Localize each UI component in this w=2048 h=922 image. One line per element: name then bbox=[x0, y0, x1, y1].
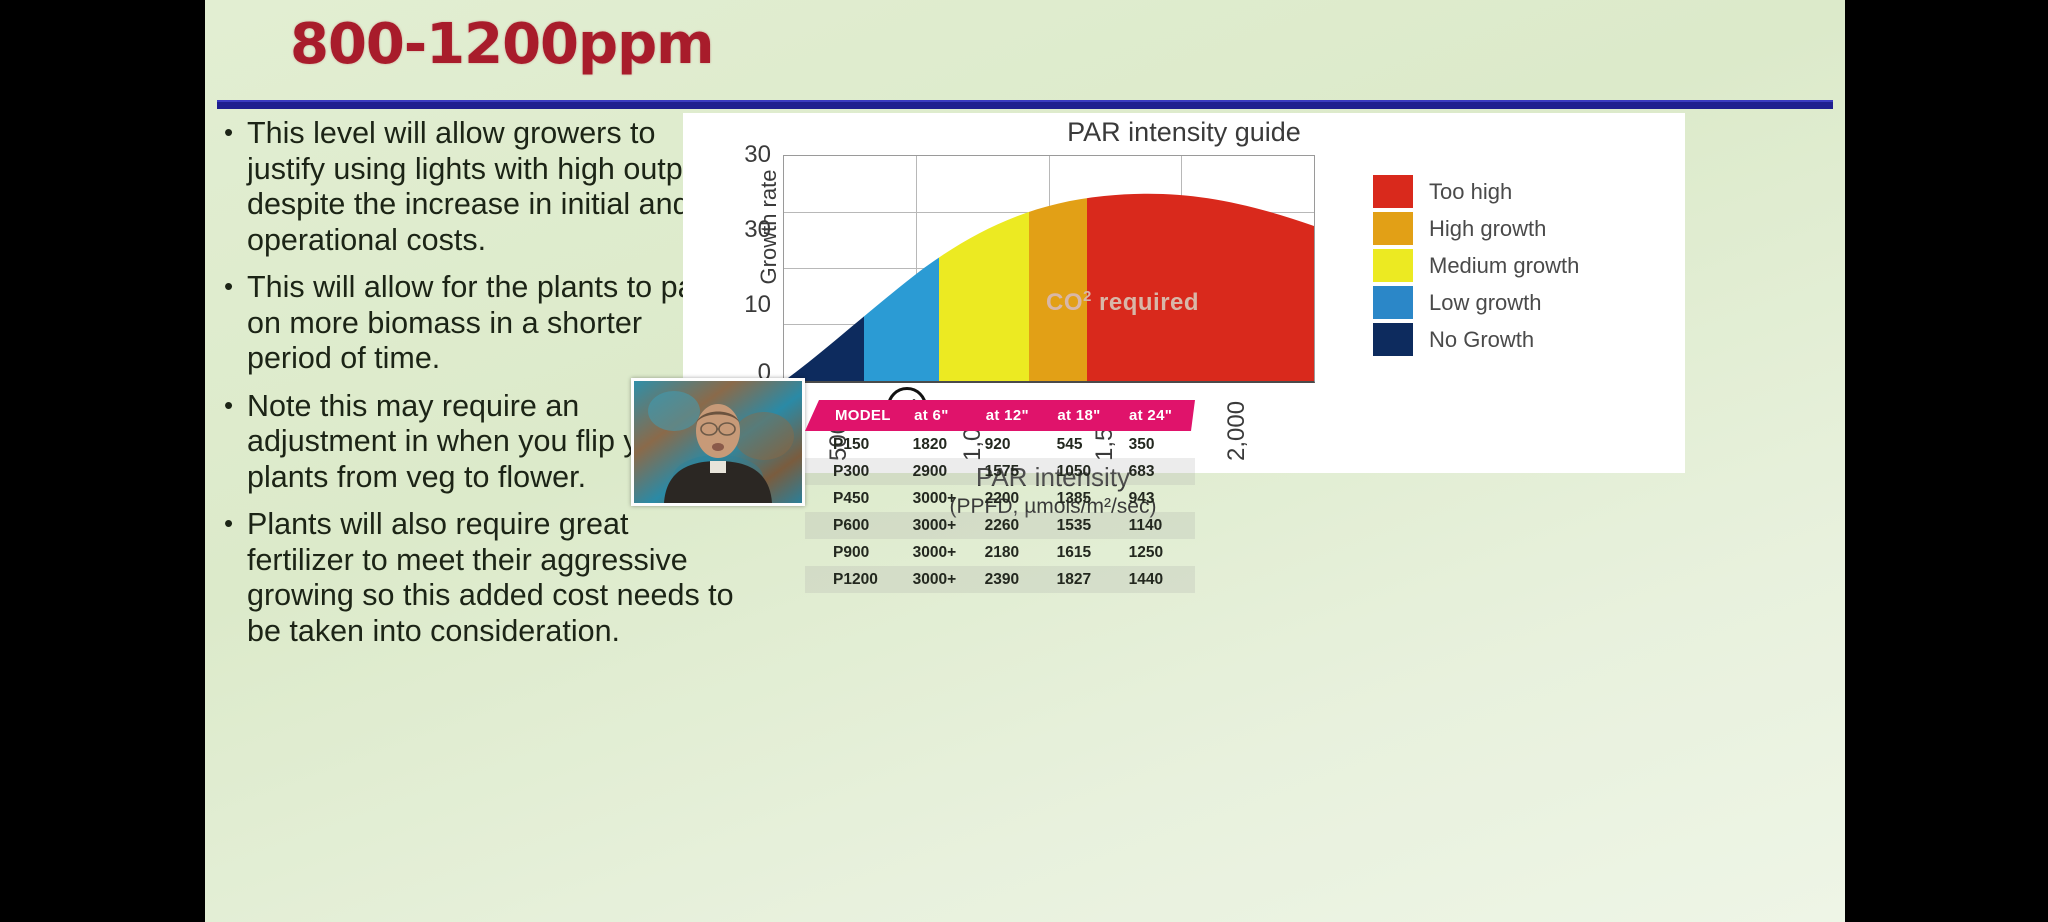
y-axis-ticks: 30 30 10 0 bbox=[721, 141, 771, 373]
letterbox-left bbox=[0, 0, 205, 922]
table-row: P300 2900 1575 1050 683 bbox=[805, 458, 1195, 485]
cell-at-18: 1535 bbox=[1057, 517, 1129, 535]
ppfd-product-table: MODEL at 6" at 12" at 18" at 24" P150 18… bbox=[805, 400, 1195, 593]
x-tick: 2,000 bbox=[1223, 401, 1251, 461]
cell-at-12: 2260 bbox=[985, 517, 1057, 535]
list-item: This will allow for the plants to pack o… bbox=[215, 270, 735, 377]
cell-at-18: 1385 bbox=[1057, 490, 1129, 508]
column-header-at-18: at 18" bbox=[1057, 407, 1129, 424]
cell-at-18: 1827 bbox=[1057, 571, 1129, 589]
legend-label: Too high bbox=[1429, 179, 1512, 205]
cell-at-24: 350 bbox=[1129, 436, 1195, 454]
cell-at-24: 683 bbox=[1129, 463, 1195, 481]
presenter-video-frame bbox=[634, 381, 802, 503]
plot-canvas: CO2 required bbox=[783, 155, 1315, 383]
legend-item: Too high bbox=[1373, 173, 1579, 210]
legend-item: High growth bbox=[1373, 210, 1579, 247]
cell-model: P450 bbox=[805, 490, 913, 508]
chart-annotation: CO2 required bbox=[1046, 288, 1199, 317]
cell-at-12: 1575 bbox=[985, 463, 1057, 481]
list-item: Plants will also require great fertilize… bbox=[215, 507, 735, 649]
cell-at-12: 920 bbox=[985, 436, 1057, 454]
cell-model: P900 bbox=[805, 544, 913, 562]
cell-model: P600 bbox=[805, 517, 913, 535]
legend-swatch-no-growth bbox=[1373, 323, 1413, 356]
column-header-at-24: at 24" bbox=[1129, 407, 1195, 424]
cell-at-6: 3000+ bbox=[913, 571, 985, 589]
letterbox-right bbox=[1845, 0, 2048, 922]
y-tick: 10 bbox=[744, 291, 771, 319]
legend-label: Medium growth bbox=[1429, 253, 1579, 279]
legend-swatch-too-high bbox=[1373, 175, 1413, 208]
presentation-slide: 800-1200ppm This level will allow grower… bbox=[205, 0, 1845, 922]
legend-label: Low growth bbox=[1429, 290, 1542, 316]
legend-swatch-high-growth bbox=[1373, 212, 1413, 245]
cell-at-18: 545 bbox=[1057, 436, 1129, 454]
cell-model: P300 bbox=[805, 463, 913, 481]
y-tick: 30 bbox=[744, 216, 771, 244]
cell-at-6: 3000+ bbox=[913, 544, 985, 562]
table-row: P600 3000+ 2260 1535 1140 bbox=[805, 512, 1195, 539]
title-divider bbox=[217, 100, 1833, 109]
legend-item: No Growth bbox=[1373, 321, 1579, 358]
table-row: P450 3000+ 2200 1385 943 bbox=[805, 485, 1195, 512]
cell-at-12: 2200 bbox=[985, 490, 1057, 508]
legend-item: Low growth bbox=[1373, 284, 1579, 321]
cell-model: P150 bbox=[805, 436, 913, 454]
y-tick: 30 bbox=[744, 141, 771, 169]
plot-area: Growth rate (photosynthesis) 30 30 10 0 bbox=[783, 155, 1313, 380]
cell-at-24: 1140 bbox=[1129, 517, 1195, 535]
column-header-at-12: at 12" bbox=[986, 407, 1058, 424]
page-title: 800-1200ppm bbox=[290, 12, 714, 77]
screen: 800-1200ppm This level will allow grower… bbox=[0, 0, 2048, 922]
cell-at-24: 1250 bbox=[1129, 544, 1195, 562]
growth-curve-areas bbox=[784, 156, 1314, 381]
legend-label: No Growth bbox=[1429, 327, 1534, 353]
cell-at-6: 3000+ bbox=[913, 490, 985, 508]
table-row: P1200 3000+ 2390 1827 1440 bbox=[805, 566, 1195, 593]
chart-legend: Too high High growth Medium growth Low g… bbox=[1373, 173, 1579, 358]
legend-swatch-low-growth bbox=[1373, 286, 1413, 319]
legend-swatch-medium-growth bbox=[1373, 249, 1413, 282]
cell-at-24: 1440 bbox=[1129, 571, 1195, 589]
table-row: P900 3000+ 2180 1615 1250 bbox=[805, 539, 1195, 566]
cell-model: P1200 bbox=[805, 571, 913, 589]
legend-label: High growth bbox=[1429, 216, 1546, 242]
legend-item: Medium growth bbox=[1373, 247, 1579, 284]
cell-at-18: 1615 bbox=[1057, 544, 1129, 562]
column-header-at-6: at 6" bbox=[914, 407, 986, 424]
cell-at-12: 2390 bbox=[985, 571, 1057, 589]
cell-at-6: 1820 bbox=[913, 436, 985, 454]
presenter-video-overlay[interactable] bbox=[631, 378, 805, 506]
table-row: P150 1820 920 545 350 bbox=[805, 431, 1195, 458]
table-header-row: MODEL at 6" at 12" at 18" at 24" bbox=[805, 400, 1195, 431]
cell-at-18: 1050 bbox=[1057, 463, 1129, 481]
chart-title: PAR intensity guide bbox=[683, 117, 1685, 148]
cell-at-6: 2900 bbox=[913, 463, 985, 481]
cell-at-24: 943 bbox=[1129, 490, 1195, 508]
column-header-model: MODEL bbox=[805, 407, 914, 424]
cell-at-6: 3000+ bbox=[913, 517, 985, 535]
list-item: This level will allow growers to justify… bbox=[215, 116, 735, 258]
cell-at-12: 2180 bbox=[985, 544, 1057, 562]
